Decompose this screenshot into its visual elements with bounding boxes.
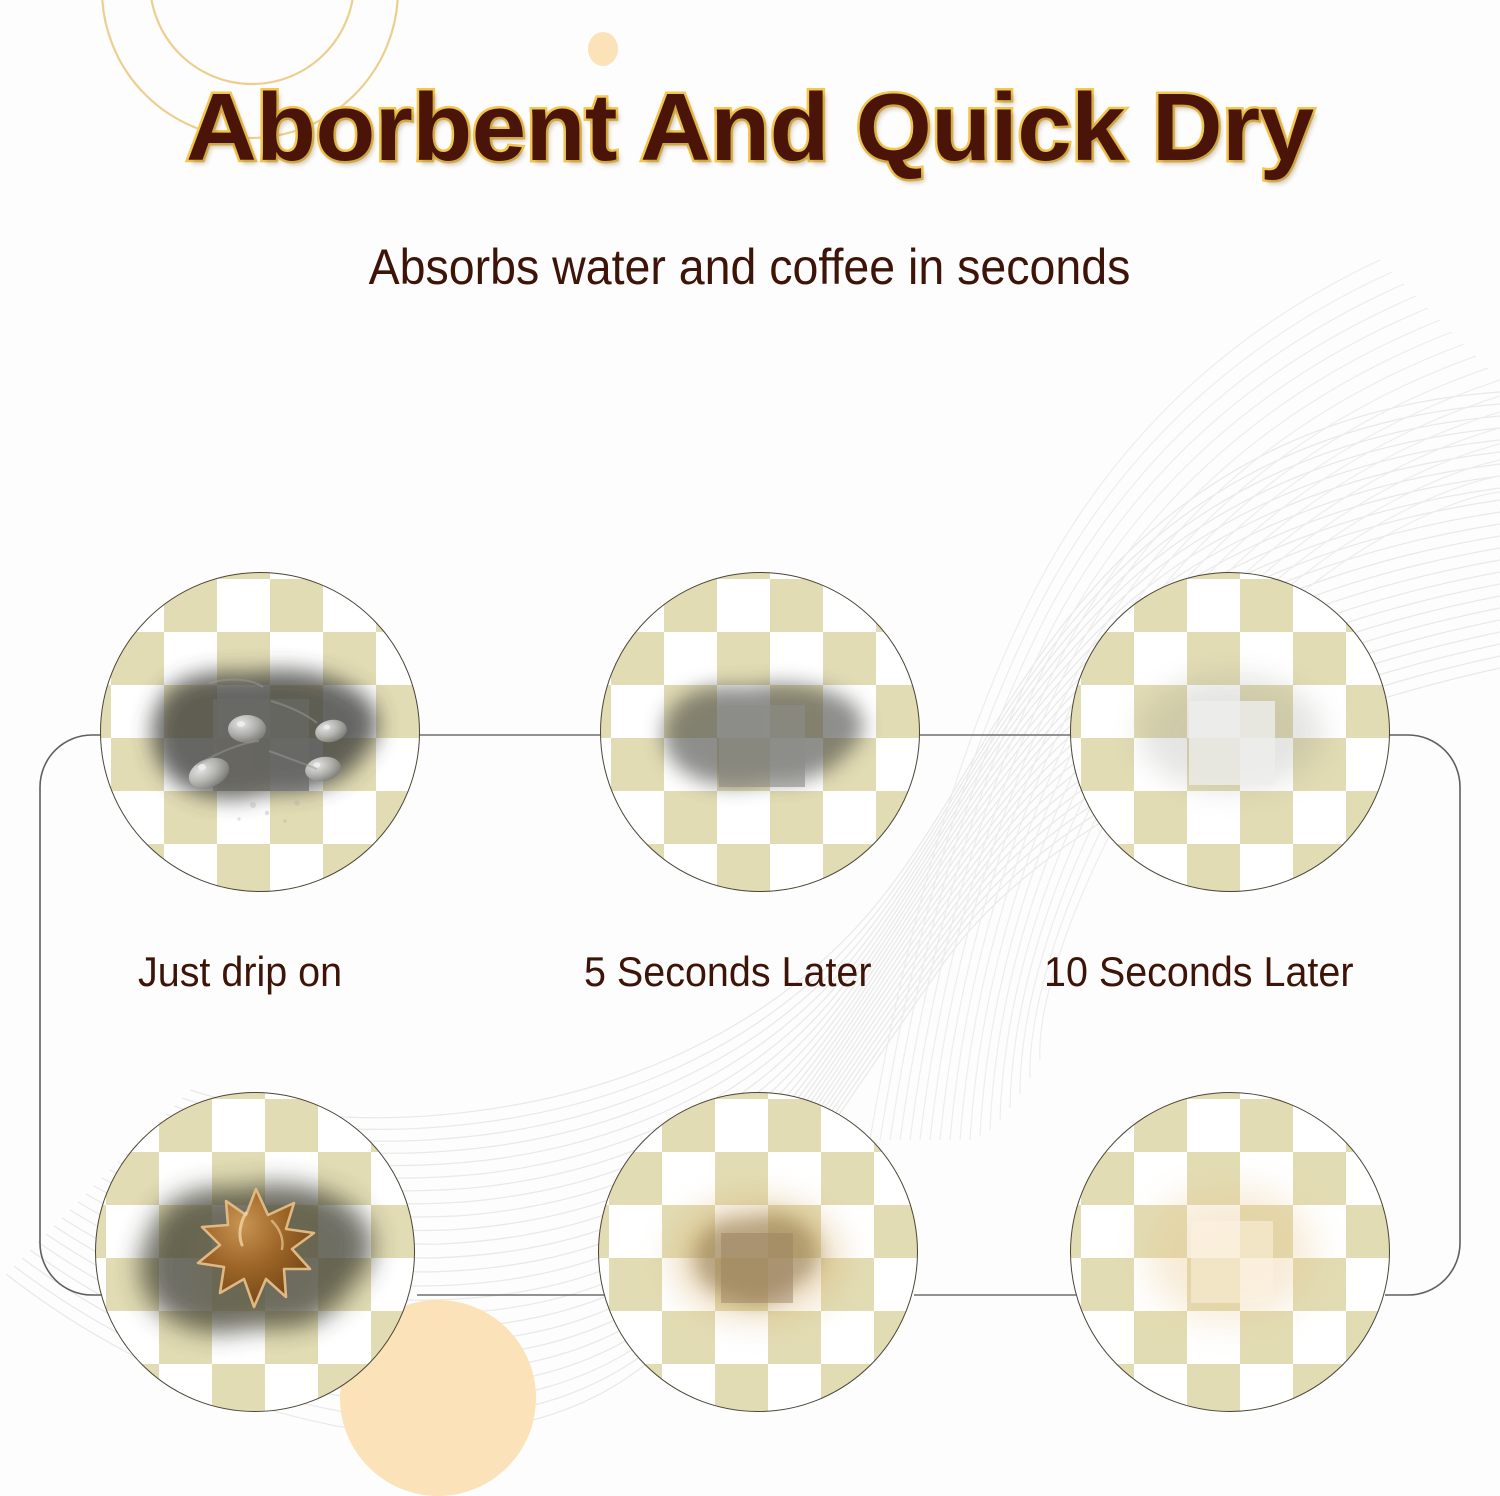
- subtitle-text: Absorbs water and coffee in seconds: [369, 240, 1131, 295]
- decorative-gold-ring-inner: [150, 0, 354, 84]
- coffee-medium-stain: [599, 1093, 918, 1412]
- poster-canvas: Aborbent And Quick Dry Absorbs water and…: [0, 0, 1500, 1496]
- coffee-drip-on-tile: [95, 1092, 415, 1412]
- coffee-heavy-stain: [96, 1093, 415, 1412]
- page-subtitle: Absorbs water and coffee in seconds: [0, 240, 1500, 295]
- decorative-cream-dot-top: [588, 32, 618, 66]
- headline-text: Aborbent And Quick Dry: [186, 78, 1314, 179]
- caption-stage-2: 5 Seconds Later: [584, 948, 872, 996]
- water-drip-on-tile: [100, 572, 420, 892]
- caption-stage-3: 10 Seconds Later: [1044, 948, 1353, 996]
- coffee-10-seconds-tile: [1070, 1092, 1390, 1412]
- water-medium-stain: [601, 573, 920, 892]
- coffee-dry-stain: [1071, 1093, 1390, 1412]
- coffee-5-seconds-tile: [598, 1092, 918, 1412]
- water-5-seconds-tile: [600, 572, 920, 892]
- water-10-seconds-tile: [1070, 572, 1390, 892]
- caption-stage-1: Just drip on: [138, 948, 342, 996]
- water-heavy-stain: [101, 573, 420, 892]
- page-title: Aborbent And Quick Dry: [0, 78, 1500, 179]
- water-dry-stain: [1071, 573, 1390, 892]
